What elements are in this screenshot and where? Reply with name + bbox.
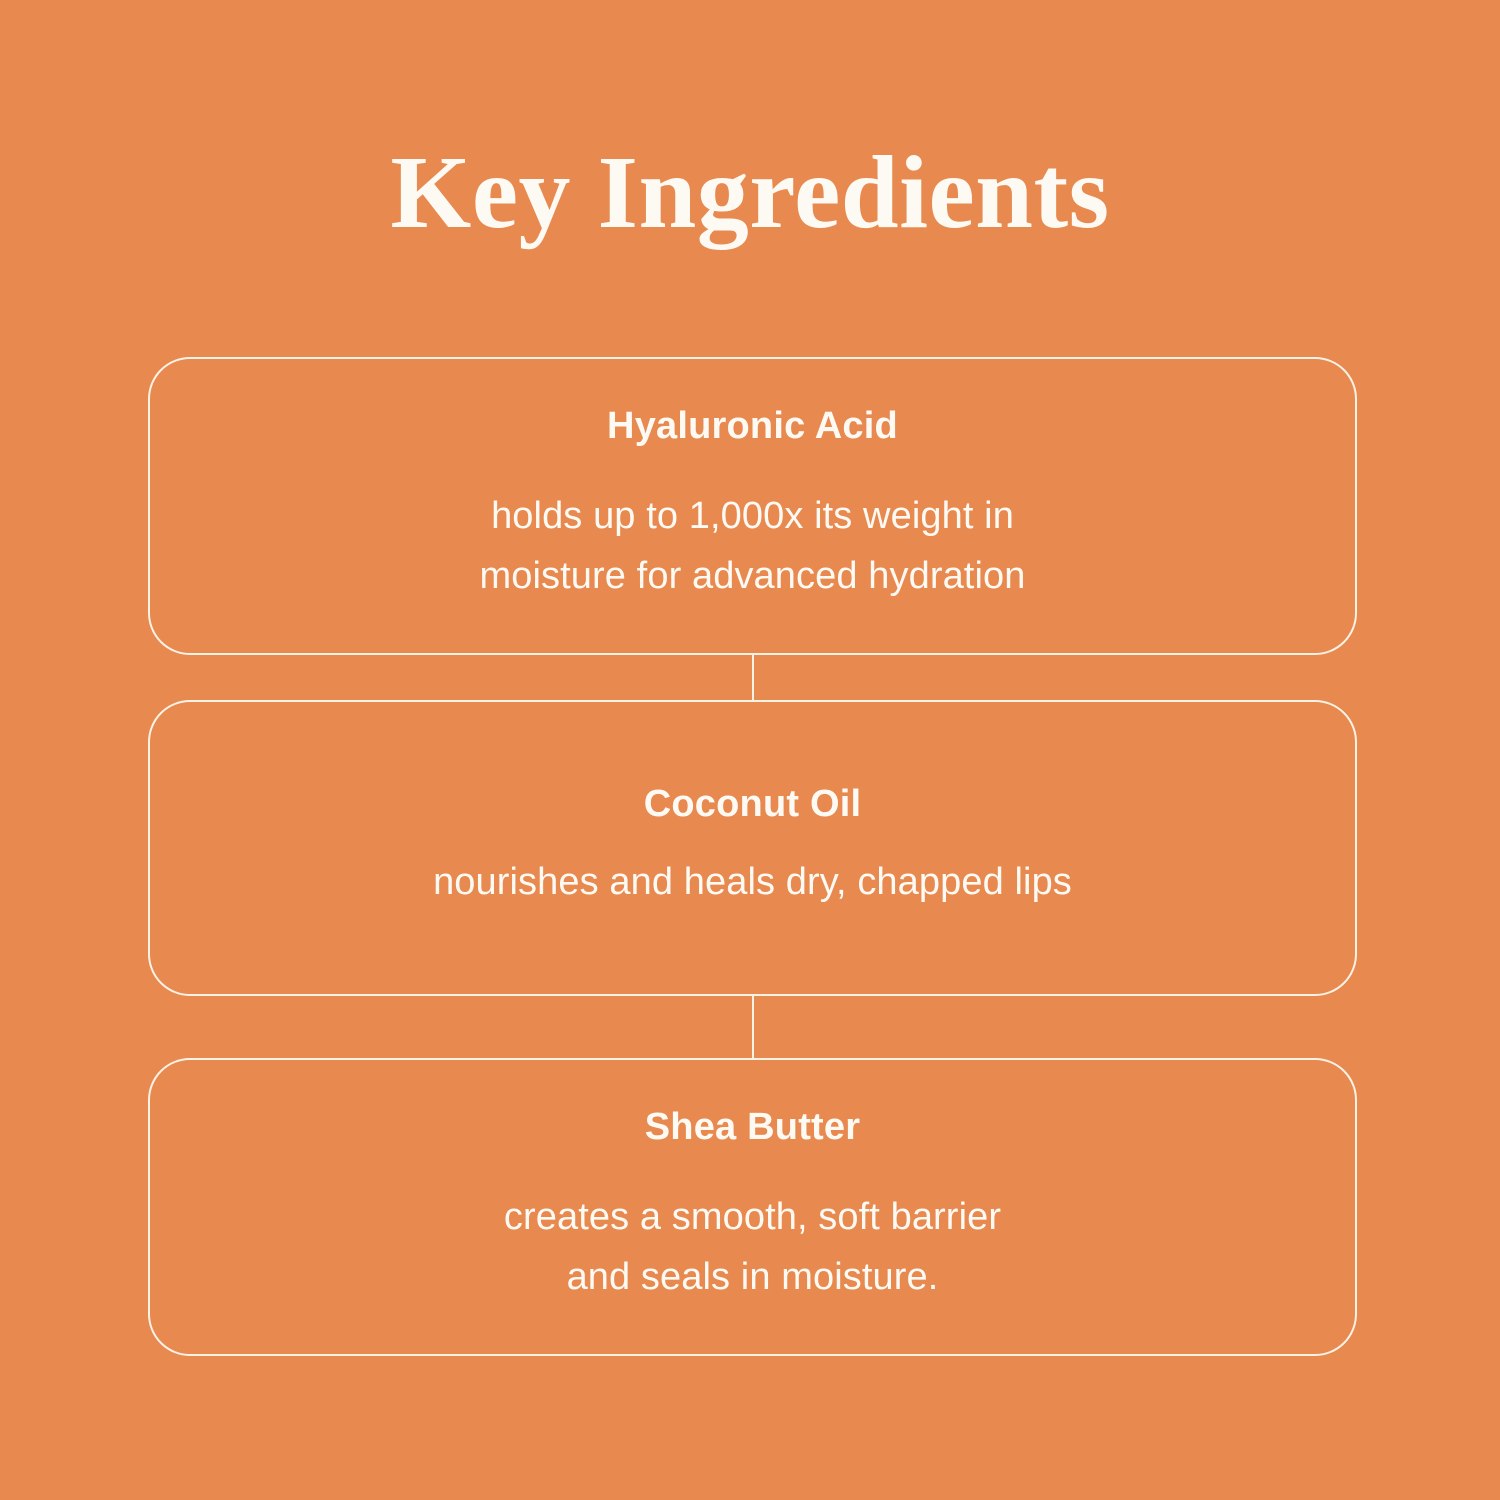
connector-line-2-to-3 — [752, 996, 754, 1058]
key-ingredients-poster: Key Ingredients Hyaluronic Acid holds up… — [0, 0, 1500, 1500]
ingredient-description: nourishes and heals dry, chapped lips — [433, 852, 1072, 912]
connector-line-1-to-2 — [752, 655, 754, 700]
description-line: holds up to 1,000x its weight in — [480, 486, 1026, 546]
description-line: creates a smooth, soft barrier — [504, 1187, 1001, 1247]
page-title: Key Ingredients — [0, 138, 1500, 247]
ingredient-card-shea-butter[interactable]: Shea Butter creates a smooth, soft barri… — [148, 1058, 1357, 1356]
ingredient-name: Hyaluronic Acid — [607, 406, 898, 448]
ingredient-card-coconut-oil[interactable]: Coconut Oil nourishes and heals dry, cha… — [148, 700, 1357, 996]
ingredient-description: creates a smooth, soft barrier and seals… — [504, 1187, 1001, 1307]
ingredient-card-hyaluronic-acid[interactable]: Hyaluronic Acid holds up to 1,000x its w… — [148, 357, 1357, 655]
description-line: nourishes and heals dry, chapped lips — [433, 852, 1072, 912]
ingredient-name: Shea Butter — [645, 1107, 860, 1149]
description-line: moisture for advanced hydration — [480, 546, 1026, 606]
ingredient-name: Coconut Oil — [644, 784, 862, 826]
ingredient-description: holds up to 1,000x its weight in moistur… — [480, 486, 1026, 606]
ingredient-card-stack: Hyaluronic Acid holds up to 1,000x its w… — [148, 357, 1357, 1356]
description-line: and seals in moisture. — [504, 1247, 1001, 1307]
